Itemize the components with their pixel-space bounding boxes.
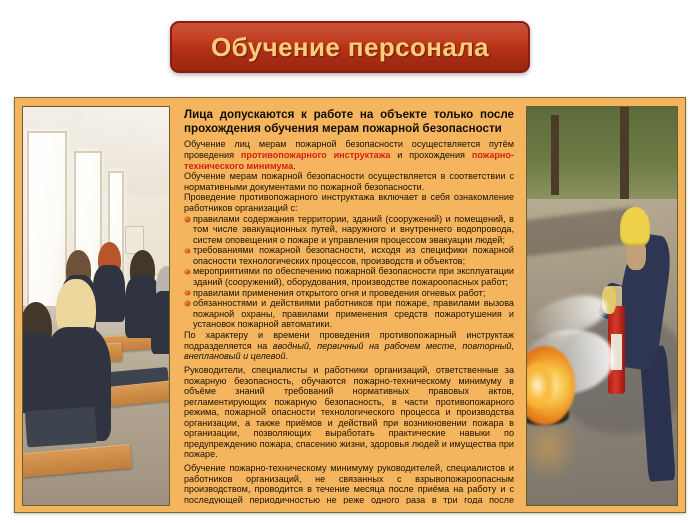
paragraph-2: Обучение мерам пожарной безопасности осу… — [184, 171, 514, 192]
paragraph-4: По характеру и времени проведения против… — [184, 330, 514, 362]
lesson-text-column: Лица допускаются к работе на объекте тол… — [178, 106, 518, 504]
person-body — [151, 291, 170, 354]
page-title: Обучение персонала — [211, 32, 489, 63]
list-item: правилами содержания территории, зданий … — [184, 214, 514, 246]
para1-highlight-1: противопожарного инструктажа — [241, 150, 390, 160]
heading-line-2: прохождения обучения мерам пожарной безо… — [184, 122, 514, 136]
slide-title-banner: Обучение персонала — [170, 21, 530, 73]
list-item: обязанностями и действиями работников пр… — [184, 298, 514, 330]
requirements-list: правилами содержания территории, зданий … — [184, 214, 514, 330]
chair — [25, 407, 97, 448]
list-item: мероприятиями по обеспечению пожарной бе… — [184, 266, 514, 287]
tree-line — [527, 107, 677, 210]
tree-trunk — [620, 107, 629, 210]
para4-part-b: . — [285, 351, 288, 361]
fire-extinguisher-drill-photo — [526, 106, 678, 506]
presentation-slide: Обучение персонала — [0, 0, 700, 525]
content-panel: Лица допускаются к работе на объекте тол… — [14, 97, 686, 513]
para1-part-c: . — [293, 161, 296, 171]
tree-trunk — [551, 115, 559, 195]
paragraph-6: Обучение пожарно-техническому минимуму р… — [184, 463, 514, 504]
paragraph-1: Обучение лиц мерам пожарной безопасности… — [184, 139, 514, 171]
seated-person — [151, 266, 170, 354]
para1-part-b: и прохождения — [390, 150, 471, 160]
paragraph-5: Руководители, специалисты и работники ор… — [184, 365, 514, 460]
classroom-photo — [22, 106, 170, 506]
paragraph-3: Проведение противопожарного инструктажа … — [184, 192, 514, 213]
list-item: требованиями пожарной безопасности, исхо… — [184, 245, 514, 266]
section-heading: Лица допускаются к работе на объекте тол… — [184, 108, 514, 136]
list-item: правилами применения открытого огня и пр… — [184, 288, 514, 299]
flame-reflection — [526, 425, 578, 481]
yellow-helmet-icon — [620, 207, 650, 247]
heading-line-1: Лица допускаются к работе на объекте тол… — [184, 108, 514, 122]
